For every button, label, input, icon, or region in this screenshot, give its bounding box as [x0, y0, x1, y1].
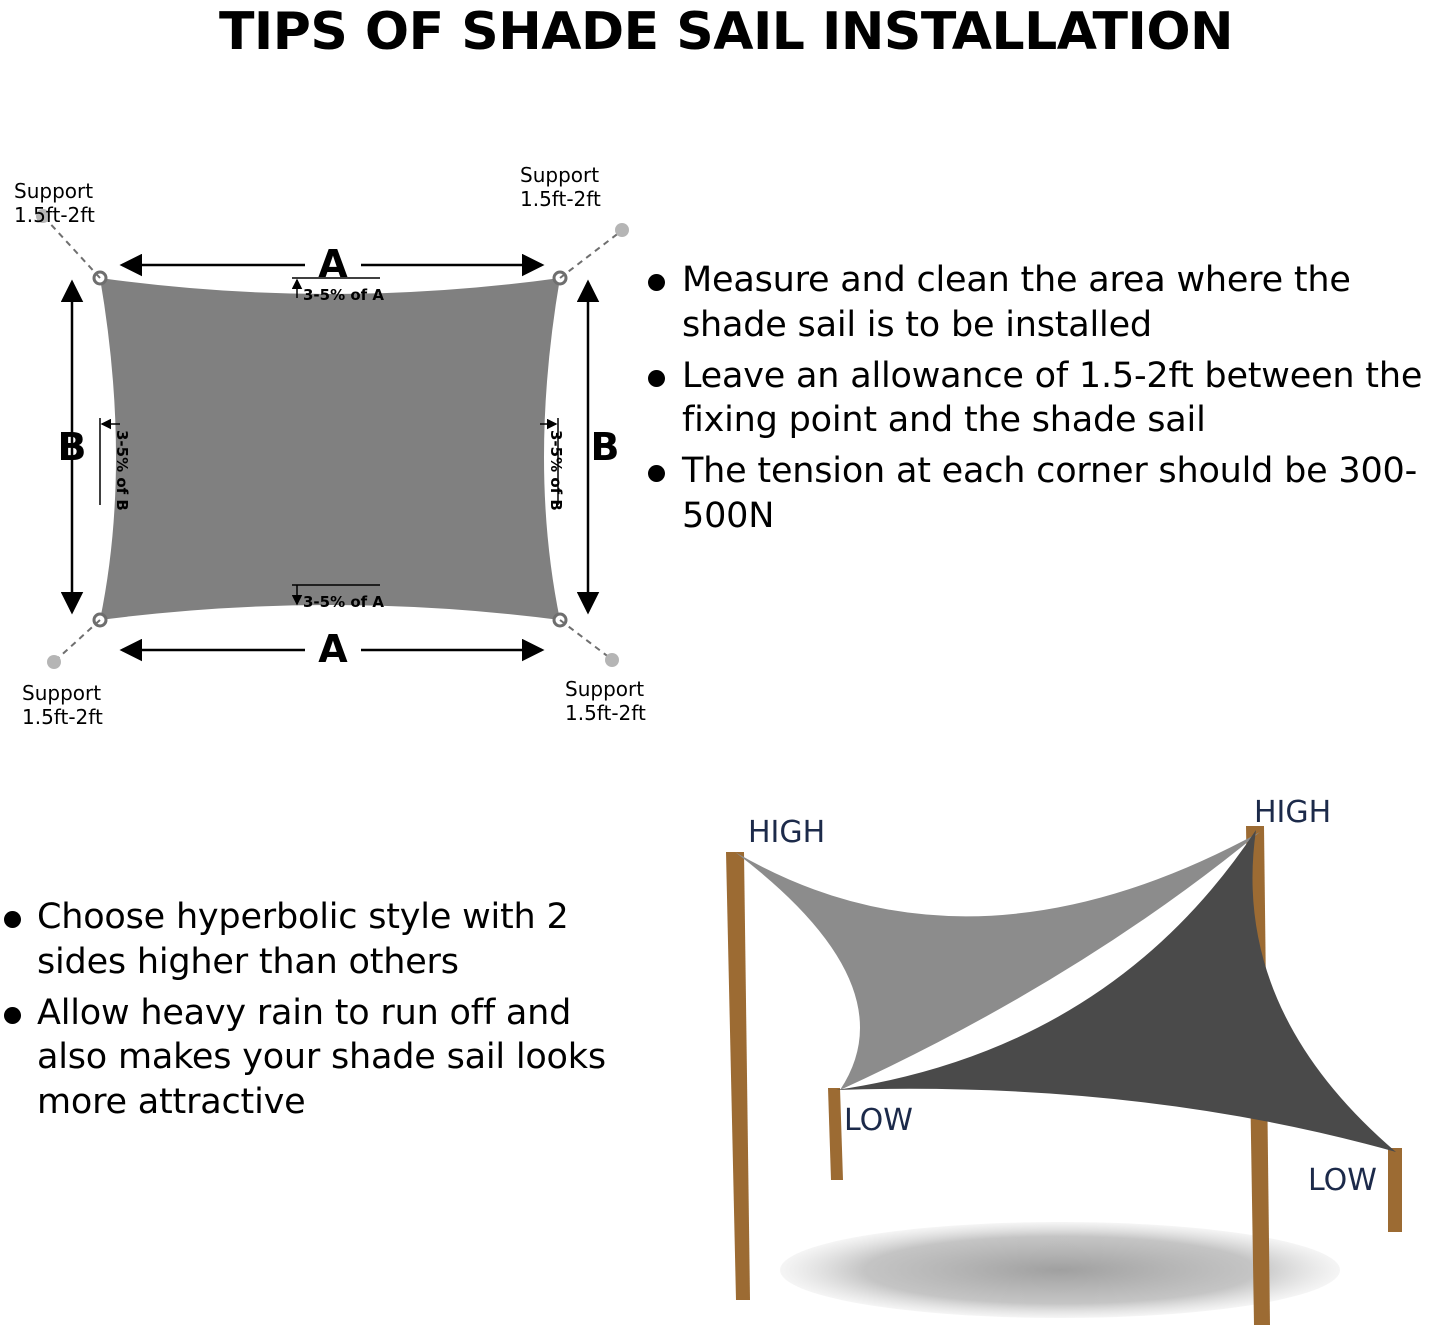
page-title: TIPS OF SHADE SAIL INSTALLATION	[0, 2, 1452, 62]
curve-label-bottom: 3-5% of A	[303, 593, 384, 611]
tip-text: Measure and clean the area where the sha…	[682, 258, 1452, 348]
support-label-top-left-line1: Support	[14, 179, 93, 203]
support-label-bottom-right-line2: 1.5ft-2ft	[565, 701, 646, 725]
pole-low-left	[828, 1088, 843, 1180]
style-tip-text: Choose hyperbolic style with 2 sides hig…	[37, 895, 624, 985]
list-item: Allow heavy rain to run off and also mak…	[4, 991, 624, 1125]
support-anchor-top-right	[615, 223, 629, 237]
support-label-top-left-line2: 1.5ft-2ft	[14, 203, 95, 227]
bullet-dot-icon	[648, 370, 665, 387]
list-item: The tension at each corner should be 300…	[648, 449, 1452, 539]
support-label-bottom-right-line1: Support	[565, 677, 644, 701]
support-label-top-right-line1: Support	[520, 163, 599, 187]
label-low-right: LOW	[1308, 1163, 1377, 1198]
style-tip-text: Allow heavy rain to run off and also mak…	[37, 991, 624, 1125]
bullet-dot-icon	[4, 1007, 21, 1024]
bullet-dot-icon	[4, 911, 21, 928]
pole-high-left	[726, 852, 750, 1300]
list-item: Measure and clean the area where the sha…	[648, 258, 1452, 348]
label-low-left: LOW	[844, 1103, 913, 1138]
hyperbolic-sail-diagram: HIGH HIGH LOW LOW	[640, 780, 1452, 1325]
list-item: Choose hyperbolic style with 2 sides hig…	[4, 895, 624, 985]
tether-top-right	[560, 232, 620, 278]
bullet-dot-icon	[648, 274, 665, 291]
curve-label-top: 3-5% of A	[303, 286, 384, 304]
style-tips-list: Choose hyperbolic style with 2 sides hig…	[4, 895, 624, 1131]
tip-text: The tension at each corner should be 300…	[682, 449, 1452, 539]
tether-bottom-right	[560, 620, 610, 658]
curve-label-left: 3-5% of B	[113, 430, 131, 511]
support-label-top-right-line2: 1.5ft-2ft	[520, 187, 601, 211]
installation-tips-list: Measure and clean the area where the sha…	[648, 258, 1452, 545]
support-label-bottom-left-line1: Support	[22, 681, 101, 705]
tip-text: Leave an allowance of 1.5-2ft between th…	[682, 354, 1452, 444]
dimension-label-left: B	[58, 425, 87, 469]
support-label-bottom-left-line2: 1.5ft-2ft	[22, 705, 103, 729]
tether-top-left	[45, 218, 100, 278]
dimension-label-bottom: A	[318, 627, 348, 671]
dimension-label-top: A	[318, 242, 348, 286]
list-item: Leave an allowance of 1.5-2ft between th…	[648, 354, 1452, 444]
rectangular-sail-diagram: Support 1.5ft-2ft Support 1.5ft-2ft Supp…	[0, 160, 660, 740]
curve-label-right: 3-5% of B	[547, 430, 565, 511]
pole-low-right	[1388, 1148, 1402, 1232]
dimension-label-right: B	[591, 425, 620, 469]
support-anchor-bottom-right	[605, 653, 619, 667]
label-high-left: HIGH	[748, 815, 825, 850]
sail-shape	[100, 278, 560, 620]
bullet-dot-icon	[648, 465, 665, 482]
label-high-right: HIGH	[1254, 795, 1331, 830]
tether-bottom-left	[56, 620, 100, 660]
support-anchor-bottom-left	[47, 655, 61, 669]
